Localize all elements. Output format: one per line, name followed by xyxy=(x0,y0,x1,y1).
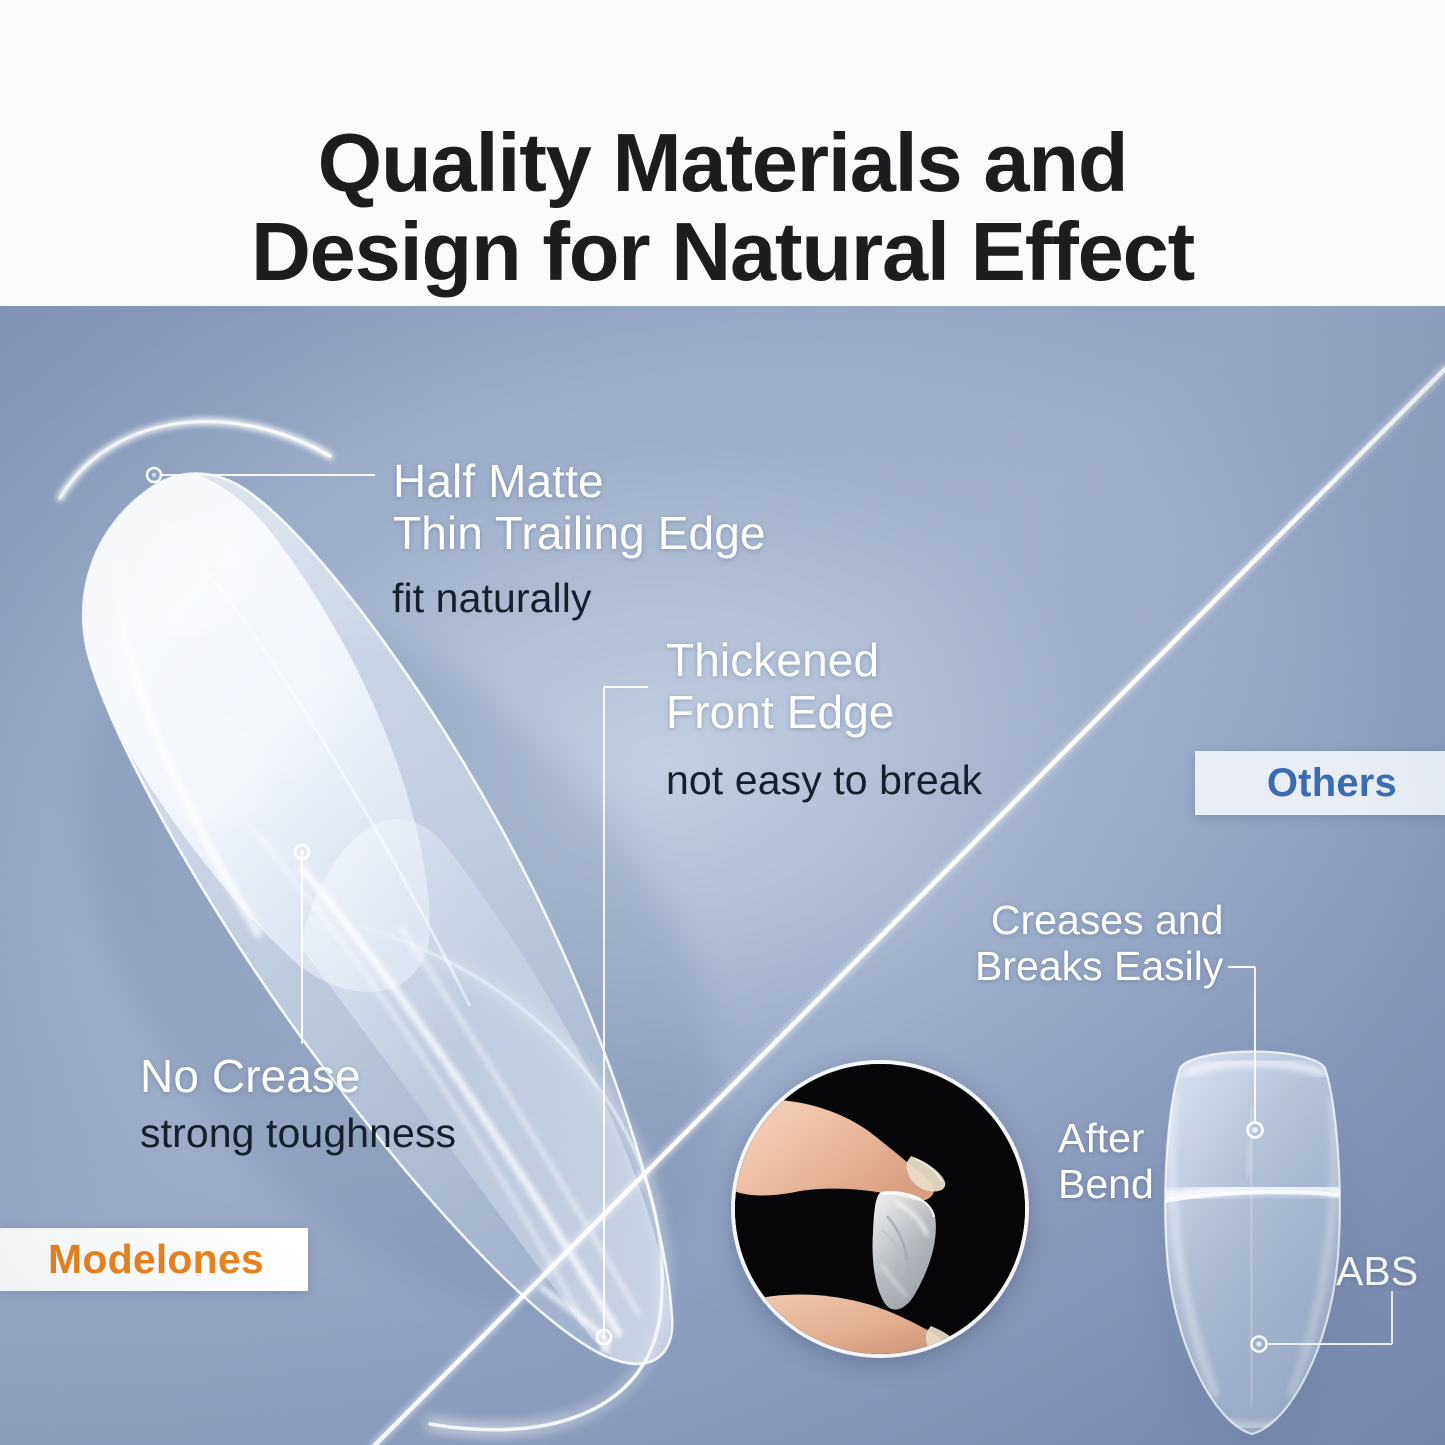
callout-creases-breaks-easily: Creases and Breaks Easily xyxy=(975,898,1223,990)
callout-no-crease-title: No Crease xyxy=(140,1051,361,1103)
callout-after-bend: After Bend xyxy=(1058,1116,1154,1208)
page-title: Quality Materials and Design for Natural… xyxy=(0,118,1445,297)
bend-demo-photo xyxy=(735,1064,1025,1354)
brand-badge-modelones-label: Modelones xyxy=(48,1236,264,1283)
callout-half-matte-title: Half Matte Thin Trailing Edge xyxy=(393,456,766,559)
callout-no-crease-subtitle: strong toughness xyxy=(140,1111,456,1156)
callout-abs-material: ABS xyxy=(1336,1249,1418,1295)
callout-thickened-front-edge-subtitle: not easy to break xyxy=(666,758,982,803)
header-band: Quality Materials and Design for Natural… xyxy=(0,0,1445,306)
hand-bending-nail-photo xyxy=(735,1064,1025,1354)
brand-badge-others-label: Others xyxy=(1267,761,1397,806)
callout-half-matte-subtitle: fit naturally xyxy=(392,576,592,621)
brand-badge-modelones: Modelones xyxy=(0,1228,308,1291)
comparison-panel: Half Matte Thin Trailing Edge fit natura… xyxy=(0,306,1445,1445)
infographic-page: Quality Materials and Design for Natural… xyxy=(0,0,1445,1445)
callout-thickened-front-edge-title: Thickened Front Edge xyxy=(666,635,895,738)
brand-badge-others: Others xyxy=(1195,751,1445,815)
